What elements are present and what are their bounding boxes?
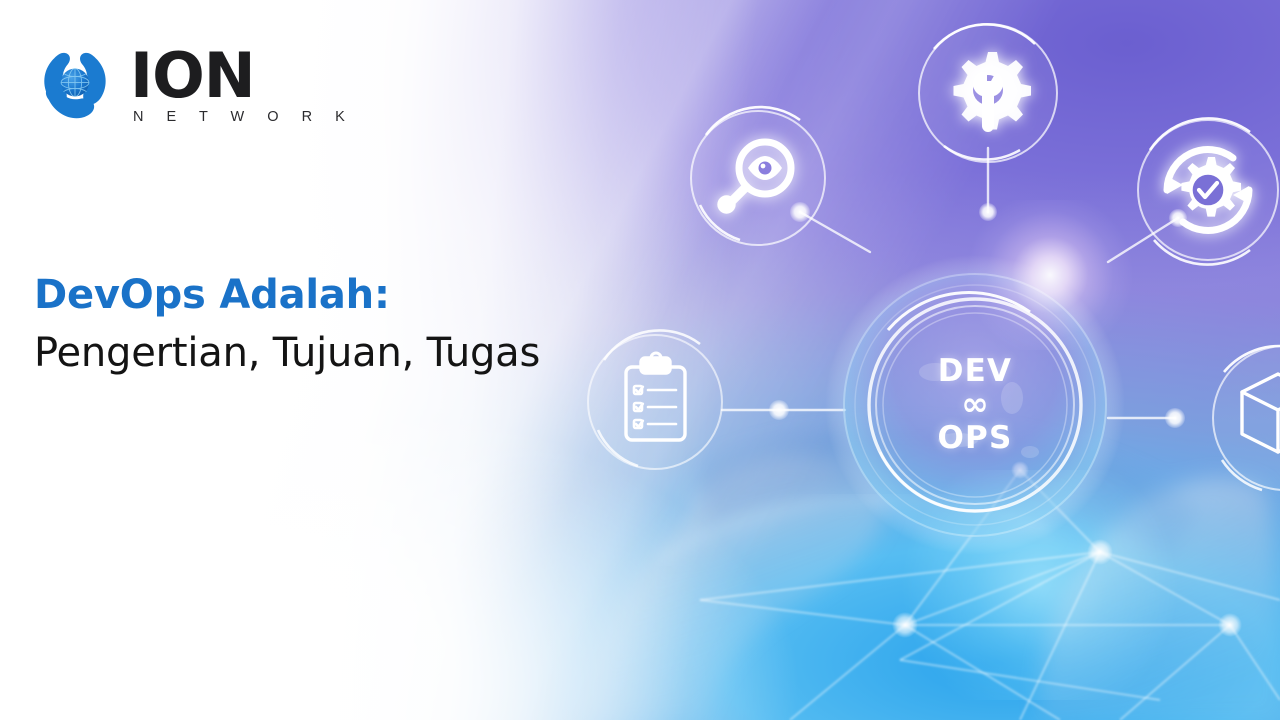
page-title: DevOps Adalah: Pengertian, Tujuan, Tugas <box>34 266 554 383</box>
headline-body-line: Pengertian, Tujuan, Tugas <box>34 324 554 382</box>
logo-wordmark: ION <box>130 47 354 104</box>
logo-tagline: N E T W O R K <box>133 109 354 125</box>
ion-network-logo[interactable]: ION N E T W O R K <box>34 44 354 126</box>
devops-article-banner: ION N E T W O R K DevOps Adalah: Pengert… <box>0 0 1280 720</box>
ion-globe-logo-icon <box>34 44 116 126</box>
headline-accent-line: DevOps Adalah: <box>34 266 554 324</box>
